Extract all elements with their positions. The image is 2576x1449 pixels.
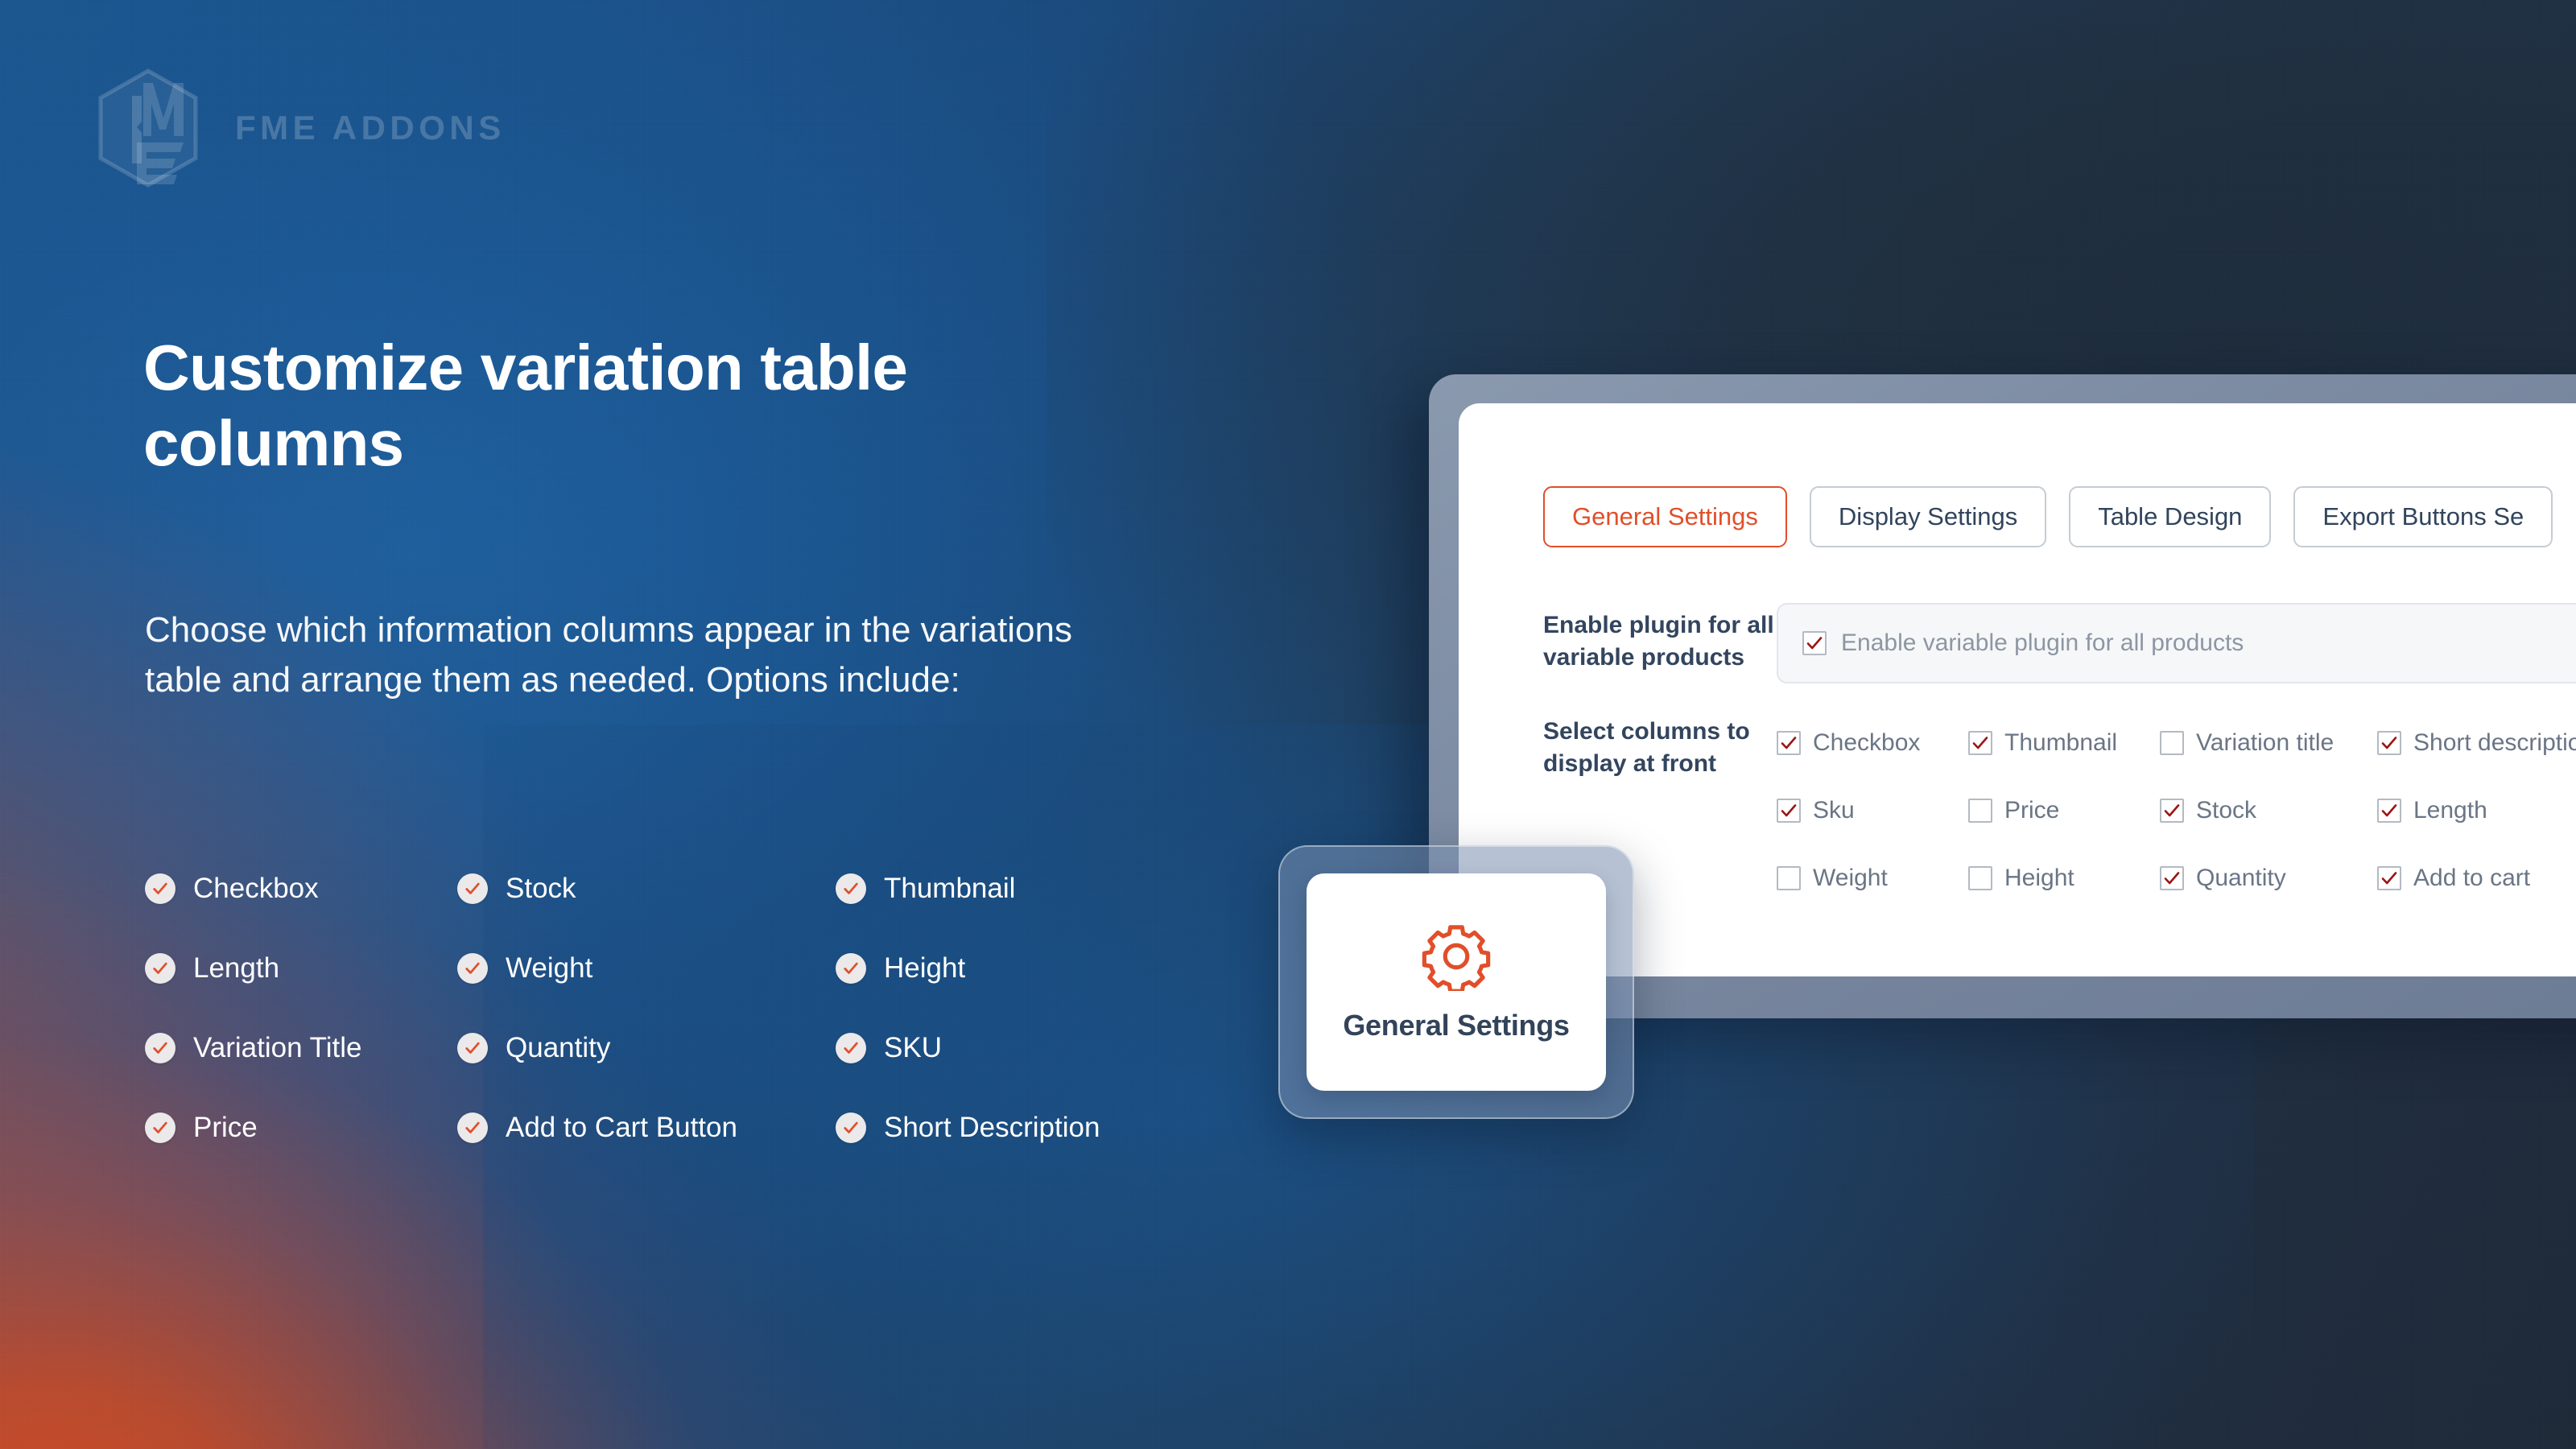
column-checkbox[interactable] <box>1968 799 1992 823</box>
column-checkbox[interactable] <box>2160 866 2184 890</box>
check-circle-icon <box>145 873 175 904</box>
column-checkbox[interactable] <box>2160 731 2184 755</box>
feature-item: Quantity <box>457 1032 836 1064</box>
feature-item-label: Quantity <box>506 1032 610 1064</box>
feature-item-label: Weight <box>506 952 592 985</box>
brand-wordmark: FME ADDONS <box>235 109 506 147</box>
feature-item: Variation Title <box>145 1032 457 1064</box>
tab-display-settings[interactable]: Display Settings <box>1810 486 2046 547</box>
check-circle-icon <box>836 873 866 904</box>
column-checkbox-label: Sku <box>1813 797 1855 824</box>
column-checkbox-label: Stock <box>2196 797 2256 824</box>
check-circle-icon <box>457 953 488 984</box>
feature-item-label: Variation Title <box>193 1032 361 1064</box>
check-circle-icon <box>145 1033 175 1063</box>
column-checkbox-label: Add to cart <box>2413 865 2530 892</box>
page-subcopy: Choose which information columns appear … <box>145 605 1079 706</box>
column-option[interactable]: Add to cart <box>2377 865 2576 892</box>
feature-item-label: Short Description <box>884 1112 1100 1144</box>
check-circle-icon <box>457 873 488 904</box>
enable-plugin-label: Enable plugin for all variable products <box>1543 603 1777 674</box>
column-option[interactable]: Height <box>1968 865 2160 892</box>
column-option[interactable]: Price <box>1968 797 2160 824</box>
column-option[interactable]: Sku <box>1777 797 1968 824</box>
check-circle-icon <box>457 1033 488 1063</box>
column-option[interactable]: Thumbnail <box>1968 729 2160 757</box>
column-checkbox[interactable] <box>2377 731 2401 755</box>
general-settings-card-inner: General Settings <box>1307 873 1606 1091</box>
column-checkbox[interactable] <box>1777 866 1801 890</box>
fme-hexagon-logo-icon <box>97 68 200 188</box>
enable-plugin-field[interactable]: Enable variable plugin for all products <box>1777 603 2576 683</box>
select-columns-label: Select columns to display at front <box>1543 709 1777 780</box>
feature-item-label: Length <box>193 952 279 985</box>
column-checkbox[interactable] <box>2377 866 2401 890</box>
column-option[interactable]: Quantity <box>2160 865 2377 892</box>
feature-item: Stock <box>457 873 836 905</box>
column-checkbox[interactable] <box>1777 799 1801 823</box>
column-checkbox-label: Quantity <box>2196 865 2286 892</box>
gear-icon <box>1422 922 1491 991</box>
settings-tab-bar: General SettingsDisplay SettingsTable De… <box>1543 486 2553 547</box>
feature-list: CheckboxStockThumbnailLengthWeightHeight… <box>145 873 1224 1191</box>
check-circle-icon <box>145 953 175 984</box>
enable-plugin-checkbox-label: Enable variable plugin for all products <box>1841 630 2244 657</box>
feature-item-label: Add to Cart Button <box>506 1112 737 1144</box>
feature-item-label: Thumbnail <box>884 873 1015 905</box>
select-columns-grid: CheckboxThumbnailVariation titleShort de… <box>1777 709 2576 912</box>
column-checkbox[interactable] <box>1968 866 1992 890</box>
page-title: Customize variation table columns <box>143 330 1093 482</box>
feature-item: Short Description <box>836 1112 1190 1144</box>
tab-general-settings[interactable]: General Settings <box>1543 486 1787 547</box>
check-circle-icon <box>457 1113 488 1143</box>
column-option[interactable]: Stock <box>2160 797 2377 824</box>
feature-item-label: SKU <box>884 1032 942 1064</box>
column-checkbox-label: Length <box>2413 797 2487 824</box>
feature-item: Height <box>836 952 1190 985</box>
column-checkbox-label: Price <box>2004 797 2059 824</box>
column-checkbox-label: Variation title <box>2196 729 2334 757</box>
column-checkbox[interactable] <box>2377 799 2401 823</box>
enable-plugin-row: Enable plugin for all variable products … <box>1543 603 2576 683</box>
feature-item: Price <box>145 1112 457 1144</box>
enable-plugin-checkbox[interactable] <box>1802 631 1827 655</box>
column-checkbox[interactable] <box>2160 799 2184 823</box>
column-option[interactable]: Short description <box>2377 729 2576 757</box>
column-option[interactable]: Length <box>2377 797 2576 824</box>
check-circle-icon <box>836 1113 866 1143</box>
column-checkbox-label: Height <box>2004 865 2074 892</box>
column-option[interactable]: Checkbox <box>1777 729 1968 757</box>
column-checkbox[interactable] <box>1777 731 1801 755</box>
feature-item-label: Stock <box>506 873 576 905</box>
feature-item: Add to Cart Button <box>457 1112 836 1144</box>
general-settings-card-label: General Settings <box>1343 1009 1569 1042</box>
select-columns-row: Select columns to display at front Check… <box>1543 709 2576 912</box>
column-checkbox-label: Weight <box>1813 865 1888 892</box>
feature-item: Checkbox <box>145 873 457 905</box>
check-circle-icon <box>145 1113 175 1143</box>
feature-item-label: Height <box>884 952 965 985</box>
feature-item: Weight <box>457 952 836 985</box>
tab-table-design[interactable]: Table Design <box>2069 486 2271 547</box>
column-checkbox-label: Checkbox <box>1813 729 1920 757</box>
column-checkbox-label: Short description <box>2413 729 2576 757</box>
column-checkbox[interactable] <box>1968 731 1992 755</box>
feature-item: Length <box>145 952 457 985</box>
tab-export-buttons-se[interactable]: Export Buttons Se <box>2293 486 2553 547</box>
check-circle-icon <box>836 1033 866 1063</box>
feature-item: SKU <box>836 1032 1190 1064</box>
check-circle-icon <box>836 953 866 984</box>
feature-item-label: Checkbox <box>193 873 319 905</box>
column-option[interactable]: Variation title <box>2160 729 2377 757</box>
column-option[interactable]: Weight <box>1777 865 1968 892</box>
brand-logo: FME ADDONS <box>97 68 506 188</box>
column-checkbox-label: Thumbnail <box>2004 729 2117 757</box>
feature-item: Thumbnail <box>836 873 1190 905</box>
feature-item-label: Price <box>193 1112 258 1144</box>
general-settings-card[interactable]: General Settings <box>1278 845 1634 1119</box>
